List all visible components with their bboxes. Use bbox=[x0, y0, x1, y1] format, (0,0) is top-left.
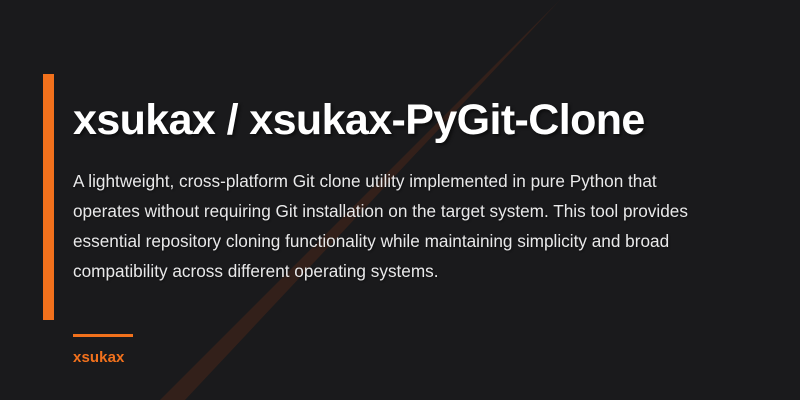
page-title: xsukax / xsukax-PyGit-Clone bbox=[73, 96, 733, 144]
repository-description: A lightweight, cross-platform Git clone … bbox=[73, 166, 698, 286]
vertical-accent-bar bbox=[43, 74, 54, 320]
card-content: xsukax / xsukax-PyGit-Clone A lightweigh… bbox=[0, 0, 800, 400]
card-footer: xsukax bbox=[73, 334, 133, 365]
footer-divider-rule bbox=[73, 334, 133, 337]
repository-social-card: xsukax / xsukax-PyGit-Clone A lightweigh… bbox=[0, 0, 800, 400]
owner-label: xsukax bbox=[73, 350, 133, 365]
